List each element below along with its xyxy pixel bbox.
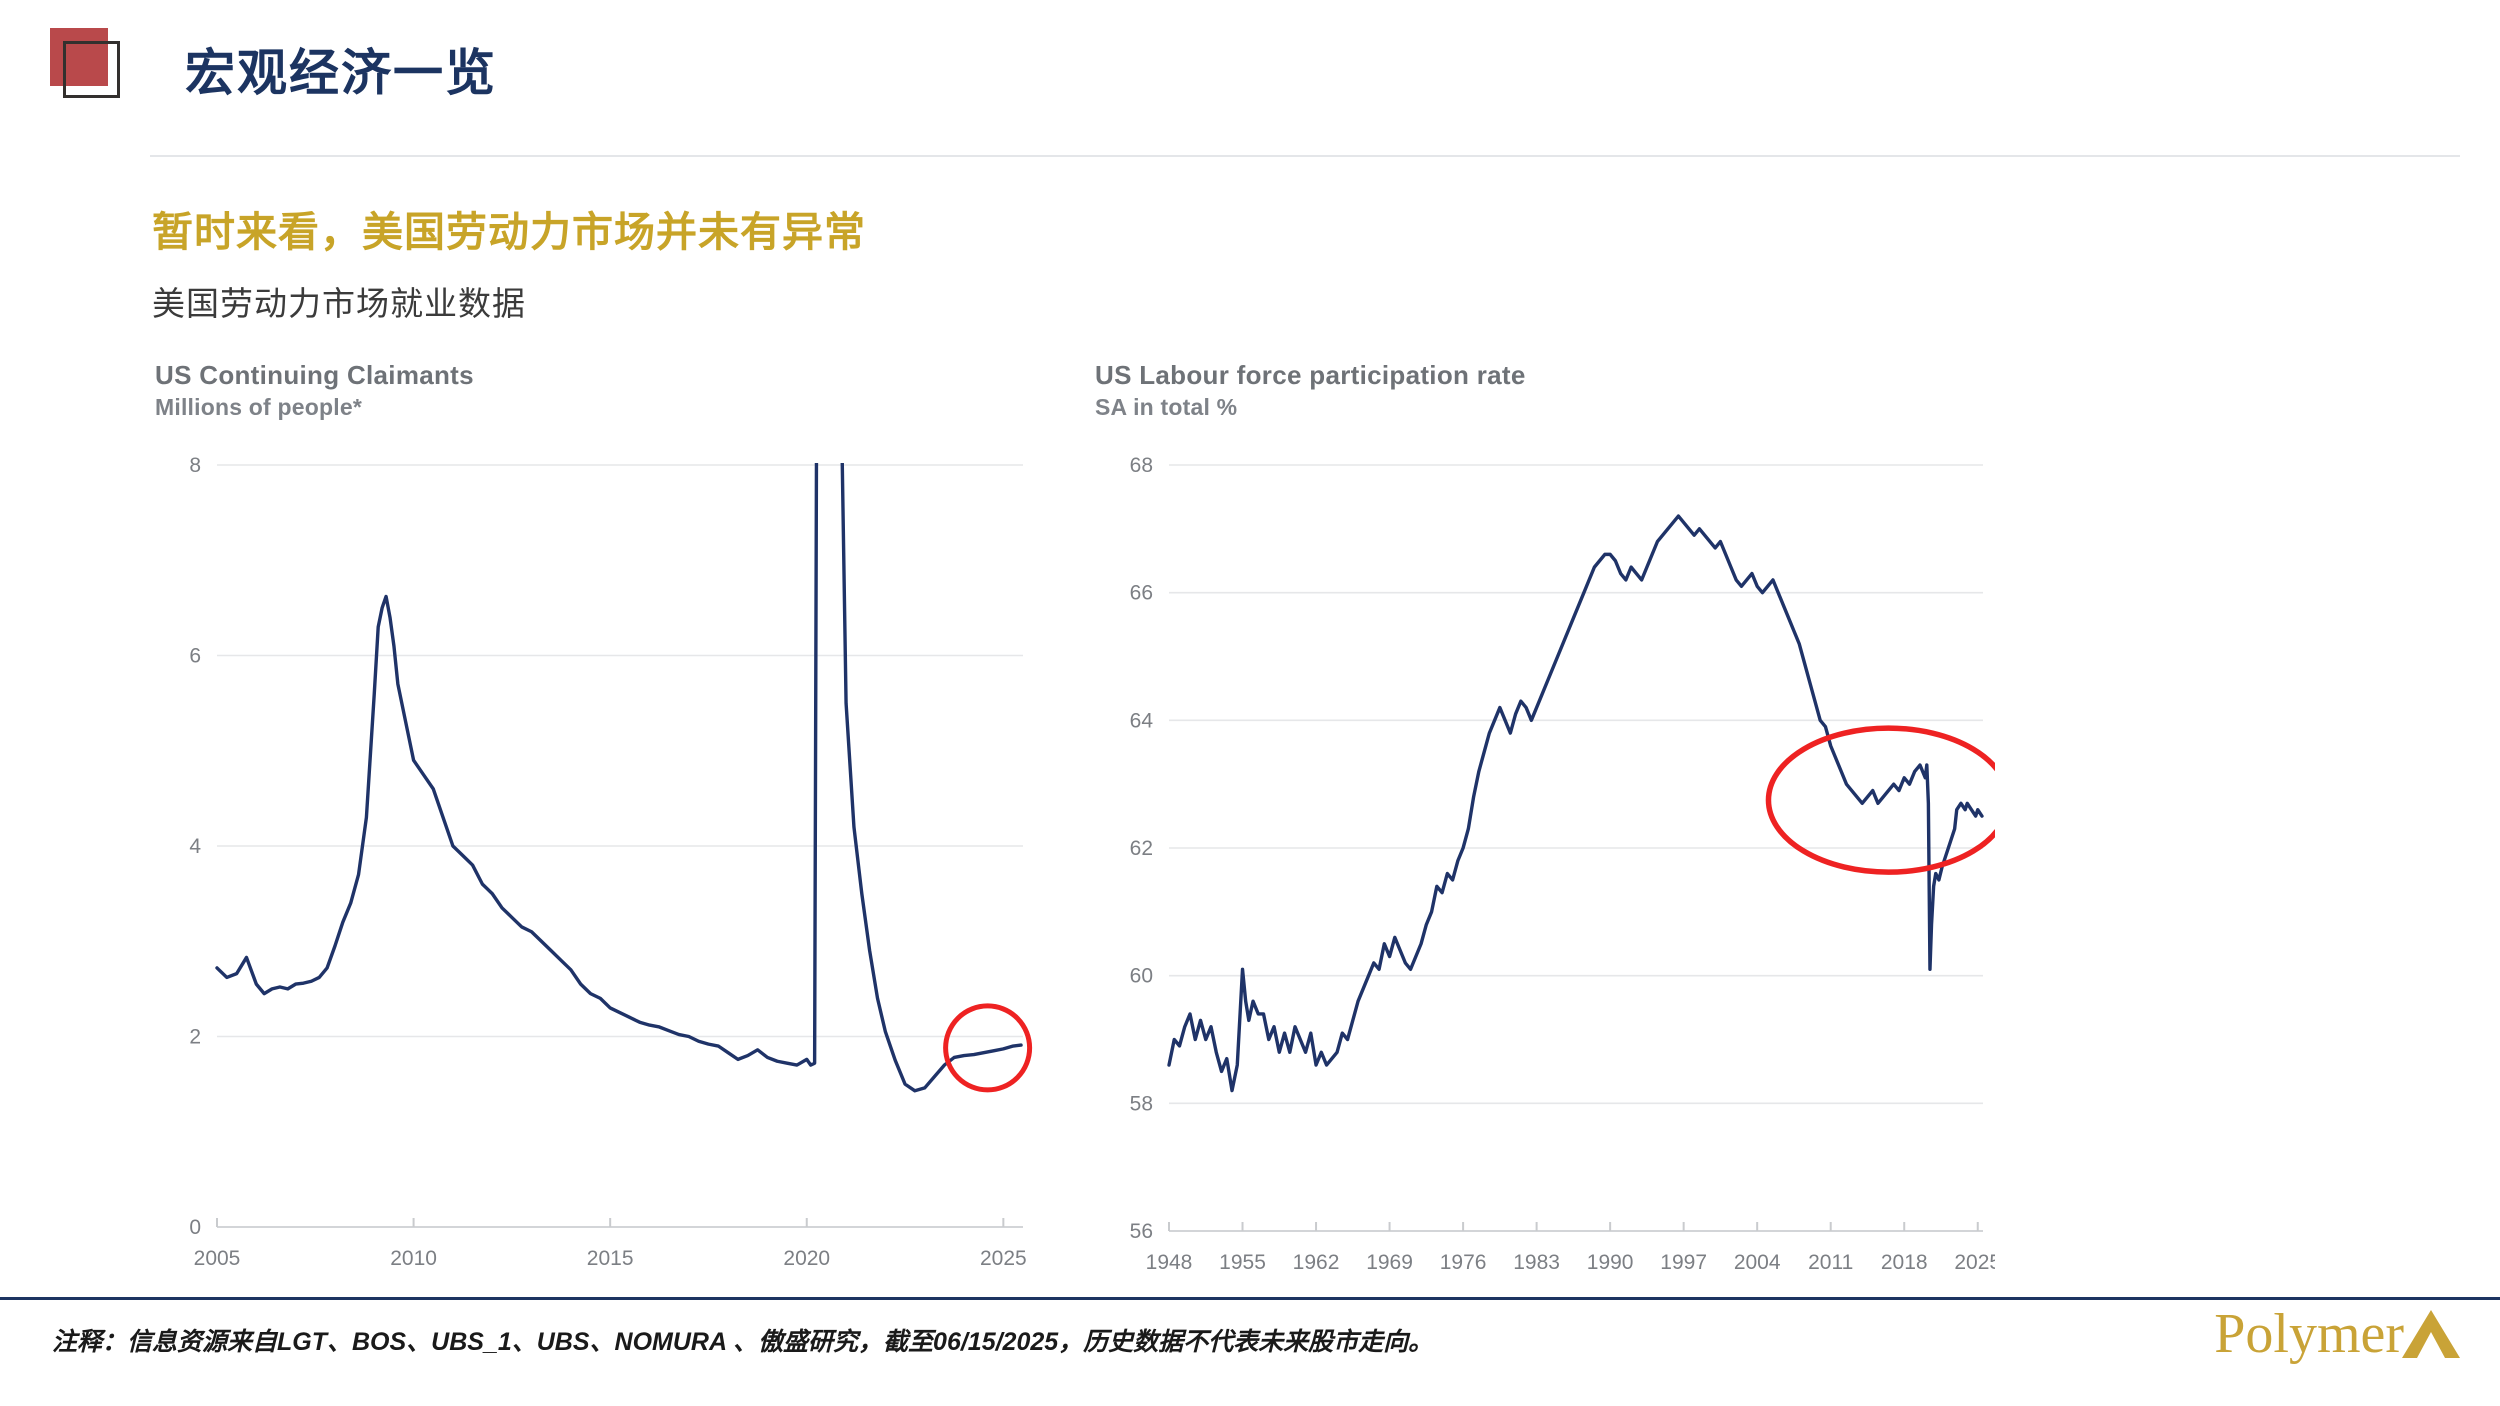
svg-text:2020: 2020 bbox=[783, 1247, 830, 1270]
svg-text:2: 2 bbox=[189, 1025, 201, 1048]
svg-text:60: 60 bbox=[1130, 964, 1153, 987]
svg-text:4: 4 bbox=[189, 835, 201, 858]
svg-text:2011: 2011 bbox=[1808, 1251, 1853, 1274]
svg-text:68: 68 bbox=[1130, 454, 1153, 477]
svg-text:64: 64 bbox=[1130, 709, 1154, 732]
svg-text:2005: 2005 bbox=[194, 1247, 241, 1270]
svg-text:8: 8 bbox=[189, 454, 201, 477]
svg-text:58: 58 bbox=[1130, 1092, 1153, 1115]
chart-subtitle-right: SA in total % bbox=[1095, 394, 1995, 421]
brand-mark-outlined-square bbox=[63, 41, 120, 98]
line-chart-participation-rate: 5658606264666819481955196219691976198319… bbox=[1095, 447, 1995, 1287]
chart-title-right: US Labour force participation rate bbox=[1095, 360, 1995, 391]
chart-title-left: US Continuing Claimants bbox=[155, 360, 1035, 391]
svg-text:2018: 2018 bbox=[1881, 1251, 1928, 1274]
svg-text:2025: 2025 bbox=[980, 1247, 1027, 1270]
svg-text:1962: 1962 bbox=[1293, 1251, 1340, 1274]
svg-text:1976: 1976 bbox=[1440, 1251, 1487, 1274]
svg-text:1955: 1955 bbox=[1219, 1251, 1266, 1274]
svg-text:56: 56 bbox=[1130, 1220, 1153, 1243]
svg-text:2004: 2004 bbox=[1734, 1251, 1781, 1274]
svg-text:2025: 2025 bbox=[1954, 1251, 1995, 1274]
chart-panel-participation-rate: US Labour force participation rate SA in… bbox=[1095, 360, 1995, 1260]
svg-text:1990: 1990 bbox=[1587, 1251, 1634, 1274]
polymer-wordmark: Polymer bbox=[2214, 1306, 2404, 1362]
footer-divider bbox=[0, 1297, 2500, 1300]
svg-text:6: 6 bbox=[189, 644, 201, 667]
svg-text:62: 62 bbox=[1130, 837, 1153, 860]
svg-text:2010: 2010 bbox=[390, 1247, 437, 1270]
svg-text:0: 0 bbox=[189, 1216, 201, 1239]
chart-subtitle-left: Millions of people* bbox=[155, 394, 1035, 421]
svg-text:1969: 1969 bbox=[1366, 1251, 1413, 1274]
header-divider bbox=[150, 155, 2460, 157]
svg-text:1948: 1948 bbox=[1146, 1251, 1193, 1274]
polymer-logo: Polymer bbox=[2214, 1306, 2462, 1362]
page-title: 宏观经济一览 bbox=[185, 33, 497, 105]
chart-panel-continuing-claimants: US Continuing Claimants Millions of peop… bbox=[155, 360, 1035, 1260]
svg-text:66: 66 bbox=[1130, 581, 1153, 604]
plot-area-right: 5658606264666819481955196219691976198319… bbox=[1095, 447, 1995, 1287]
line-chart-continuing-claimants: 0246820052010201520202025 bbox=[155, 447, 1035, 1287]
polymer-caret-icon bbox=[2400, 1308, 2462, 1360]
svg-text:1997: 1997 bbox=[1660, 1251, 1707, 1274]
headline-subtitle: 美国劳动力市场就业数据 bbox=[152, 277, 526, 325]
brand-mark-icon bbox=[50, 28, 122, 100]
svg-text:2015: 2015 bbox=[587, 1247, 634, 1270]
slide-header: 宏观经济一览 bbox=[0, 0, 2500, 160]
svg-text:1983: 1983 bbox=[1513, 1251, 1560, 1274]
footnote-text: 注释：信息资源来自LGT、BOS、UBS_1、UBS、NOMURA 、傲盛研究，… bbox=[52, 1322, 1433, 1358]
headline-main: 暂时来看，美国劳动力市场并未有异常 bbox=[152, 198, 866, 258]
plot-area-left: 0246820052010201520202025 bbox=[155, 447, 1035, 1287]
